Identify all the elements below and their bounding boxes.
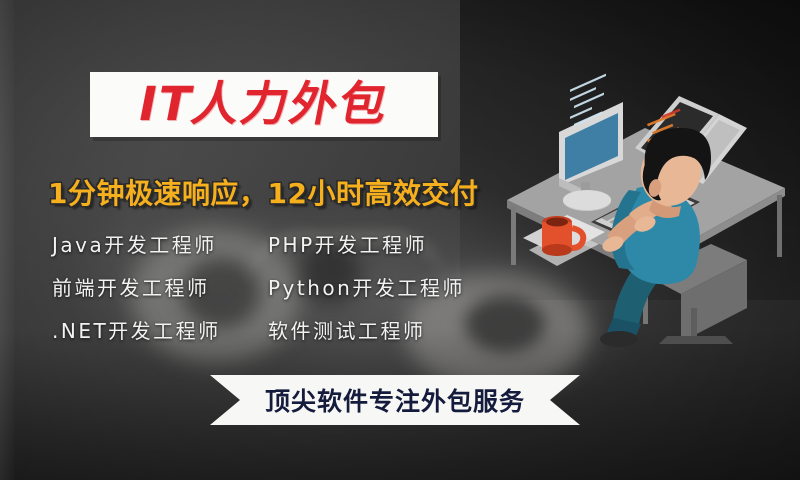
subtitle-text: 1分钟极速响应，12小时高效交付: [48, 172, 508, 212]
job-row: 前端开发工程师 Python开发工程师: [52, 265, 492, 308]
job-item-python: Python开发工程师: [268, 272, 488, 301]
ribbon-text: 顶尖软件专注外包服务: [210, 375, 580, 425]
job-item-java: Java开发工程师: [52, 229, 268, 258]
bottom-ribbon: 顶尖软件专注外包服务: [210, 375, 580, 425]
poster-canvas: IT人力外包 1分钟极速响应，12小时高效交付 Java开发工程师 PHP开发工…: [0, 0, 800, 480]
job-item-frontend: 前端开发工程师: [52, 272, 268, 301]
job-item-dotnet: .NET开发工程师: [52, 315, 268, 344]
title-banner: IT人力外包: [90, 72, 438, 137]
job-list: Java开发工程师 PHP开发工程师 前端开发工程师 Python开发工程师 .…: [52, 222, 492, 351]
job-item-qa: 软件测试工程师: [268, 315, 488, 344]
developer-at-desk-illustration: [495, 60, 795, 350]
page-title: IT人力外包: [135, 81, 394, 128]
job-row: Java开发工程师 PHP开发工程师: [52, 222, 492, 265]
job-row: .NET开发工程师 软件测试工程师: [52, 308, 492, 351]
job-item-php: PHP开发工程师: [268, 229, 488, 258]
